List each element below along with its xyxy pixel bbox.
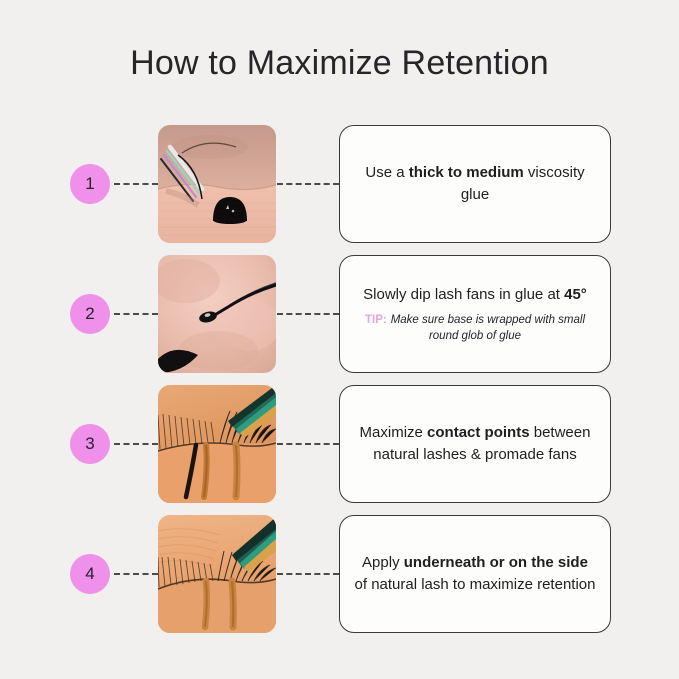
step-thumbnail-image: [158, 255, 276, 373]
step-number-badge: 1: [70, 164, 110, 204]
step-number-label: 1: [85, 174, 94, 194]
connector-dash-right: [277, 443, 339, 445]
step-number-label: 2: [85, 304, 94, 324]
step-number-badge: 4: [70, 554, 110, 594]
lash-applied-underneath-natural-lash-icon: [158, 515, 276, 633]
step-text-card: Apply underneath or on the side of natur…: [339, 515, 611, 633]
connector-dash-left: [114, 183, 158, 185]
connector-dash-right: [277, 313, 339, 315]
step-row: 2: [0, 255, 679, 373]
tip-label: TIP:: [365, 314, 387, 326]
connector-dash-left: [114, 313, 158, 315]
step-text-emphasis: contact points: [427, 424, 530, 441]
step-text-emphasis: 45°: [564, 286, 587, 303]
step-number-label: 4: [85, 564, 94, 584]
step-text: Use a thick to medium viscosity glue: [354, 162, 596, 206]
step-row: 3: [0, 385, 679, 503]
connector-dash-left: [114, 573, 158, 575]
step-text-part: Apply: [362, 554, 404, 571]
lash-fan-dipped-in-glue-closeup-icon: [158, 255, 276, 373]
step-text-part: Maximize: [360, 424, 428, 441]
step-text-card: Use a thick to medium viscosity glue: [339, 125, 611, 243]
step-text: Slowly dip lash fans in glue at 45°: [363, 284, 587, 306]
step-number-label: 3: [85, 434, 94, 454]
tip-text: Make sure base is wrapped with small rou…: [391, 314, 585, 342]
step-thumbnail-image: [158, 385, 276, 503]
connector-dash-right: [277, 573, 339, 575]
step-thumbnail-image: [158, 125, 276, 243]
step-text-emphasis: thick to medium: [409, 164, 524, 181]
step-text: Maximize contact points between natural …: [354, 422, 596, 466]
step-number-badge: 2: [70, 294, 110, 334]
step-text-emphasis: underneath or on the side: [404, 554, 588, 571]
connector-dash-right: [277, 183, 339, 185]
step-text: Apply underneath or on the side of natur…: [354, 552, 596, 596]
page-title: How to Maximize Retention: [0, 44, 679, 83]
step-text-part: Slowly dip lash fans in glue at: [363, 286, 564, 303]
step-number-badge: 3: [70, 424, 110, 464]
infographic-page: How to Maximize Retention 1: [0, 0, 679, 679]
connector-dash-left: [114, 443, 158, 445]
step-thumbnail-image: [158, 515, 276, 633]
step-text-card: Slowly dip lash fans in glue at 45° TIP:…: [339, 255, 611, 373]
step-tip: TIP:Make sure base is wrapped with small…: [354, 312, 596, 344]
step-row: 4: [0, 515, 679, 633]
steps-list: 1: [0, 125, 679, 645]
step-text-part: Use a: [365, 164, 408, 181]
step-row: 1: [0, 125, 679, 243]
tweezers-holding-lash-over-glue-drop-icon: [158, 125, 276, 243]
step-text-card: Maximize contact points between natural …: [339, 385, 611, 503]
lash-extension-application-contact-points-icon: [158, 385, 276, 503]
step-text-part: of natural lash to maximize retention: [355, 576, 596, 593]
